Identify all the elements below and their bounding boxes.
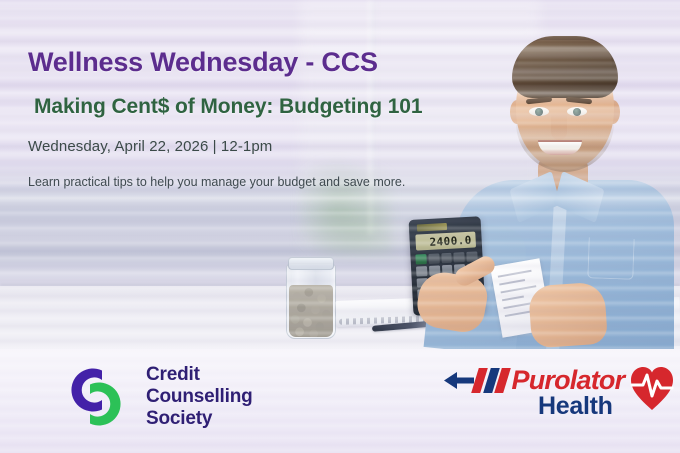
ccs-wordmark-line2: Counselling xyxy=(146,386,253,408)
purolator-health-logo[interactable]: Purolator Health xyxy=(444,364,662,430)
coins xyxy=(289,285,333,337)
ccs-interlocking-c-icon xyxy=(58,362,134,432)
heart-pulse-icon xyxy=(630,366,674,412)
eye-right xyxy=(567,107,587,116)
eye-left xyxy=(529,107,549,116)
page-subtitle: Making Cent$ of Money: Budgeting 101 xyxy=(34,95,498,119)
hand-holding-receipt xyxy=(528,281,608,348)
calculator: 2400.0 xyxy=(409,216,486,316)
wellness-wednesday-poster: 2400.0 Wellness Wednesday - CCS Making C… xyxy=(0,0,680,453)
coin-jar xyxy=(286,255,334,337)
purolator-division-text: Health xyxy=(538,394,613,419)
calculator-keypad xyxy=(415,251,480,311)
page-title: Wellness Wednesday - CCS xyxy=(28,48,498,78)
calculator-display-value: 2400.0 xyxy=(429,234,472,247)
poster-copy: Wellness Wednesday - CCS Making Cent$ of… xyxy=(28,48,498,192)
event-description: Learn practical tips to help you manage … xyxy=(28,172,428,193)
shirt-pocket xyxy=(587,237,634,280)
calculator-screen: 2400.0 xyxy=(415,231,476,250)
ccs-wordmark-line1: Credit xyxy=(146,364,253,386)
event-datetime: Wednesday, April 22, 2026 | 12-1pm xyxy=(28,138,498,155)
credit-counselling-society-logo[interactable]: Credit Counselling Society xyxy=(58,362,253,432)
ccs-wordmark-line3: Society xyxy=(146,408,253,430)
ccs-wordmark: Credit Counselling Society xyxy=(146,364,253,431)
calculator-solar-panel xyxy=(417,223,447,232)
purolator-brand-text: Purolator xyxy=(512,367,625,394)
hair-fringe xyxy=(518,40,612,70)
arrow-icon xyxy=(444,372,474,389)
jar-lip xyxy=(288,257,334,270)
nose xyxy=(551,112,567,140)
